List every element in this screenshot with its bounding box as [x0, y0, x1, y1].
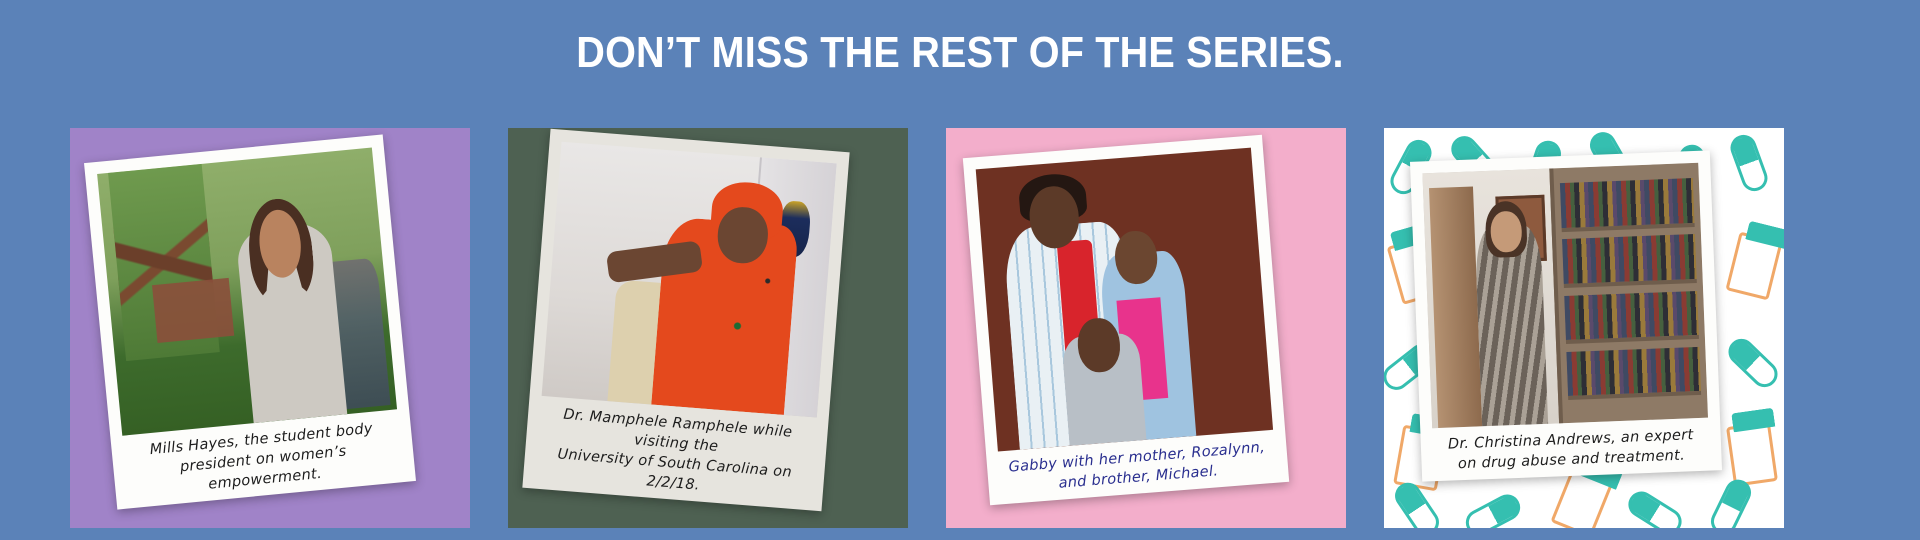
page-title: DON’T MISS THE REST OF THE SERIES. — [96, 28, 1824, 78]
brick-wall-decor — [152, 278, 234, 343]
photo-student-portrait-outdoors — [97, 148, 397, 436]
polaroid-frame[interactable]: Dr. Christina Andrews, an expert on drug… — [1410, 150, 1722, 481]
polaroid-frame[interactable]: Dr. Mamphele Ramphele while visiting the… — [522, 129, 849, 511]
book-row — [1560, 178, 1695, 232]
person-head-decor — [1490, 210, 1522, 252]
book-row — [1566, 346, 1701, 400]
pill-bottle-icon — [1726, 421, 1778, 487]
polaroid-frame[interactable]: Mills Hayes, the student body president … — [84, 134, 416, 509]
photo-seated-interview-portrait — [542, 142, 837, 418]
series-card-row: Mills Hayes, the student body president … — [0, 128, 1920, 528]
series-card-christina-andrews[interactable]: Dr. Christina Andrews, an expert on drug… — [1384, 128, 1784, 528]
book-row — [1562, 234, 1697, 288]
series-card-gabby-family[interactable]: Gabby with her mother, Rozalynn, and bro… — [946, 128, 1346, 528]
photo-office-bookshelf-portrait — [1422, 163, 1708, 428]
capsule-icon — [1707, 475, 1756, 528]
photo-caption: Dr. Christina Andrews, an expert on drug… — [1432, 418, 1710, 482]
capsule-icon — [1723, 334, 1783, 393]
photo-family-group-portrait — [976, 148, 1273, 452]
wooden-door-decor — [1429, 187, 1482, 428]
capsule-icon — [1624, 487, 1687, 528]
promo-banner: DON’T MISS THE REST OF THE SERIES. Mills… — [0, 0, 1920, 540]
series-card-mills-hayes[interactable]: Mills Hayes, the student body president … — [70, 128, 470, 528]
series-card-mamphele-ramphele[interactable]: Dr. Mamphele Ramphele while visiting the… — [508, 128, 908, 528]
book-row — [1564, 290, 1699, 344]
capsule-icon — [1461, 490, 1524, 528]
bookshelf-decor — [1549, 163, 1708, 424]
polaroid-frame[interactable]: Gabby with her mother, Rozalynn, and bro… — [963, 135, 1289, 505]
capsule-icon — [1727, 131, 1771, 194]
pill-bottle-icon — [1725, 232, 1782, 301]
